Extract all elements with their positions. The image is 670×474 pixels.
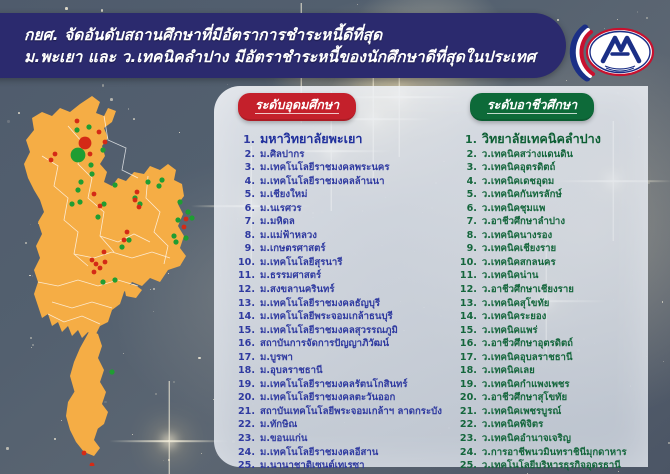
sparkle-dot xyxy=(101,9,104,12)
higher-education-column: ระดับอุดมศึกษา 1.มหาวิทยาลัยพะเยา2.ม.ศิล… xyxy=(214,86,442,467)
list-item-label: ว.อาชีวศึกษาอุตรดิตถ์ xyxy=(482,337,573,351)
list-item: 10.ม.เทคโนโลยีสุรนารี xyxy=(238,256,442,270)
list-item-label: ม.เทคโนโลยีพระจอมเกล้าธนบุรี xyxy=(260,310,393,324)
list-item: 23.ว.เทคนิคอำนาจเจริญ xyxy=(460,432,648,446)
list-item: 17.ว.เทคนิคอุบลราชธานี xyxy=(460,351,648,365)
list-item-label: ว.เทคนิคเชียงราย xyxy=(482,242,556,256)
list-item: 6.ว.เทคนิคชุมแพ xyxy=(460,202,648,216)
list-item-number: 8. xyxy=(238,229,255,243)
list-item: 20.ม.เทคโนโลยีราชมงคลตะวันออก xyxy=(238,391,442,405)
list-item-number: 20. xyxy=(460,391,477,405)
list-item-label: ม.แม่ฟ้าหลวง xyxy=(260,229,317,243)
list-item-label: ม.ขอนแก่น xyxy=(260,432,307,446)
list-item: 4.ม.เทคโนโลยีราชมงคลล้านนา xyxy=(238,175,442,189)
list-item-label: ว.เทคนิคกันทรลักษ์ xyxy=(482,188,562,202)
sparkle-dot xyxy=(637,11,638,12)
list-item: 19.ว.เทคนิคกำแพงเพชร xyxy=(460,378,648,392)
list-item-number: 6. xyxy=(238,202,255,216)
list-item-label: ว.เทคนิคเดชอุดม xyxy=(482,175,554,189)
list-item: 25.ม.นานาชาติเซนต์เทเรซา xyxy=(238,459,442,473)
badge-higher-education: ระดับอุดมศึกษา xyxy=(238,93,356,121)
list-item-number: 13. xyxy=(238,297,255,311)
list-item-number: 25. xyxy=(238,459,255,473)
list-item-number: 8. xyxy=(460,229,477,243)
sparkle-dot xyxy=(557,19,559,21)
list-item-number: 22. xyxy=(238,418,255,432)
list-item-label: ม.ทักษิณ xyxy=(260,418,297,432)
list-item-label: ว.อาชีวศึกษาเชียงราย xyxy=(482,283,574,297)
list-item-label: ม.เทคโนโลยีราชมงคลอีสาน xyxy=(260,446,378,460)
list-item-number: 14. xyxy=(238,310,255,324)
list-item-label: ม.เทคโนโลยีสุรนารี xyxy=(260,256,342,270)
list-item-label: ม.เทคโนโลยีราชมงคลพระนคร xyxy=(260,161,389,175)
badge-vocational-education: ระดับอาชีวศึกษา xyxy=(470,93,594,121)
list-item-number: 22. xyxy=(460,418,477,432)
list-item-number: 10. xyxy=(460,256,477,270)
list-item-number: 4. xyxy=(460,175,477,189)
list-item: 13.ว.เทคนิคสุโขทัย xyxy=(460,297,648,311)
list-item-number: 21. xyxy=(238,405,255,419)
list-item: 14.ม.เทคโนโลยีพระจอมเกล้าธนบุรี xyxy=(238,310,442,324)
list-item: 22.ม.ทักษิณ xyxy=(238,418,442,432)
list-item: 1.วิทยาลัยเทคนิคลำปาง xyxy=(460,130,648,148)
list-item-label: ว.เทคนิคอุบลราชธานี xyxy=(482,351,573,365)
list-item-number: 16. xyxy=(238,337,255,351)
higher-education-list: 1.มหาวิทยาลัยพะเยา2.ม.ศิลปากร3.ม.เทคโนโล… xyxy=(238,130,442,473)
list-item: 2.ม.ศิลปากร xyxy=(238,148,442,162)
list-item-number: 1. xyxy=(238,131,255,148)
badge-higher-education-label: ระดับอุดมศึกษา xyxy=(255,97,339,114)
list-item-number: 23. xyxy=(238,432,255,446)
list-item-label: ม.นเรศวร xyxy=(260,202,302,216)
list-item-number: 15. xyxy=(238,324,255,338)
list-item-number: 2. xyxy=(238,148,255,162)
list-item: 12.ว.อาชีวศึกษาเชียงราย xyxy=(460,283,648,297)
list-item-number: 10. xyxy=(238,256,255,270)
list-item-number: 12. xyxy=(460,283,477,297)
list-item-number: 19. xyxy=(238,378,255,392)
list-item-label: ม.ศิลปากร xyxy=(260,148,304,162)
list-item-label: ม.อุบลราชธานี xyxy=(260,364,323,378)
list-item-number: 21. xyxy=(460,405,477,419)
list-item-number: 15. xyxy=(460,324,477,338)
list-item-number: 11. xyxy=(460,269,477,283)
list-item-number: 4. xyxy=(238,175,255,189)
kyose-logo xyxy=(565,18,657,86)
list-item: 11.ม.ธรรมศาสตร์ xyxy=(238,269,442,283)
list-item-label: ม.เทคโนโลยีราชมงคลสุวรรณภูมิ xyxy=(260,324,398,338)
list-item-number: 23. xyxy=(460,432,477,446)
list-item-number: 20. xyxy=(238,391,255,405)
list-item: 8.ม.แม่ฟ้าหลวง xyxy=(238,229,442,243)
list-item: 11.ว.เทคนิคน่าน xyxy=(460,269,648,283)
list-item: 6.ม.นเรศวร xyxy=(238,202,442,216)
list-item-label: ม.เทคโนโลยีราชมงคลรัตนโกสินทร์ xyxy=(260,378,408,392)
list-item-number: 1. xyxy=(460,131,477,148)
list-item-number: 25. xyxy=(460,459,477,473)
sparkle-dot xyxy=(357,4,358,5)
list-item-number: 7. xyxy=(238,215,255,229)
list-item-number: 16. xyxy=(460,337,477,351)
badge-vocational-education-label: ระดับอาชีวศึกษา xyxy=(487,97,577,114)
list-item-number: 3. xyxy=(238,161,255,175)
vocational-education-list: 1.วิทยาลัยเทคนิคลำปาง2.ว.เทคนิคสว่างแดนด… xyxy=(460,130,648,473)
list-item-label: ม.สงขลานครินทร์ xyxy=(260,283,335,297)
list-item-number: 11. xyxy=(238,269,255,283)
kyose-logo-svg xyxy=(565,18,657,86)
list-item: 3.ม.เทคโนโลยีราชมงคลพระนคร xyxy=(238,161,442,175)
list-item-number: 14. xyxy=(460,310,477,324)
sparkle-dot xyxy=(227,84,228,85)
thailand-map xyxy=(8,86,238,466)
list-item: 5.ว.เทคนิคกันทรลักษ์ xyxy=(460,188,648,202)
list-item-number: 12. xyxy=(238,283,255,297)
list-item: 12.ม.สงขลานครินทร์ xyxy=(238,283,442,297)
list-item: 1.มหาวิทยาลัยพะเยา xyxy=(238,130,442,148)
list-item-number: 7. xyxy=(460,215,477,229)
list-item: 20.ว.อาชีวศึกษาสุโขทัย xyxy=(460,391,648,405)
list-item-number: 18. xyxy=(238,364,255,378)
list-item: 22.ว.เทคนิคพิจิตร xyxy=(460,418,648,432)
list-item-label: ว.เทคนิคพิจิตร xyxy=(482,418,543,432)
list-item-label: มหาวิทยาลัยพะเยา xyxy=(260,130,362,147)
list-item: 17.ม.บูรพา xyxy=(238,351,442,365)
sparkle-dot xyxy=(663,361,664,362)
list-item-number: 9. xyxy=(238,242,255,256)
list-item-number: 2. xyxy=(460,148,477,162)
list-item-label: ว.เทคนิคกำแพงเพชร xyxy=(482,378,570,392)
list-item: 14.ว.เทคนิคระยอง xyxy=(460,310,648,324)
list-item-label: ว.เทคนิคเพชรบูรณ์ xyxy=(482,405,561,419)
list-item: 4.ว.เทคนิคเดชอุดม xyxy=(460,175,648,189)
list-item: 13.ม.เทคโนโลยีราชมงคลธัญบุรี xyxy=(238,297,442,311)
list-item: 3.ว.เทคนิคอุตรดิตถ์ xyxy=(460,161,648,175)
list-item-label: ม.เทคโนโลยีราชมงคลล้านนา xyxy=(260,175,384,189)
list-item: 16.สถาบันการจัดการปัญญาภิวัฒน์ xyxy=(238,337,442,351)
title-banner: กยศ. จัดอันดับสถานศึกษาที่มีอัตราการชำระ… xyxy=(0,13,566,78)
list-item-label: ว.อาชีวศึกษาสุโขทัย xyxy=(482,391,567,405)
rankings-panel: ระดับอุดมศึกษา 1.มหาวิทยาลัยพะเยา2.ม.ศิล… xyxy=(214,86,648,467)
list-item: 21.ว.เทคนิคเพชรบูรณ์ xyxy=(460,405,648,419)
list-item-label: ว.การอาชีพนวมินทราชินีมุกดาหาร xyxy=(482,446,627,460)
list-item: 19.ม.เทคโนโลยีราชมงคลรัตนโกสินทร์ xyxy=(238,378,442,392)
list-item: 15.ว.เทคนิคแพร่ xyxy=(460,324,648,338)
list-item-label: ม.นานาชาติเซนต์เทเรซา xyxy=(260,459,365,473)
list-item-number: 24. xyxy=(460,446,477,460)
thailand-map-svg xyxy=(8,86,238,466)
list-item: 23.ม.ขอนแก่น xyxy=(238,432,442,446)
vocational-education-column: ระดับอาชีวศึกษา 1.วิทยาลัยเทคนิคลำปาง2.ว… xyxy=(442,86,648,467)
list-item-number: 9. xyxy=(460,242,477,256)
list-item-label: ม.บูรพา xyxy=(260,351,293,365)
list-item-number: 18. xyxy=(460,364,477,378)
list-item-label: ว.เทคนิคน่าน xyxy=(482,269,539,283)
list-item-number: 3. xyxy=(460,161,477,175)
list-item-number: 24. xyxy=(238,446,255,460)
list-item-label: ม.เกษตรศาสตร์ xyxy=(260,242,325,256)
list-item-label: ว.อาชีวศึกษาลำปาง xyxy=(482,215,565,229)
list-item-label: ว.เทคนิคชุมแพ xyxy=(482,202,545,216)
list-item: 21.สถาบันเทคโนโลยีพระจอมเกล้าฯ ลาดกระบัง xyxy=(238,405,442,419)
list-item-number: 17. xyxy=(460,351,477,365)
list-item: 18.ว.เทคนิคเลย xyxy=(460,364,648,378)
list-item-label: ม.เทคโนโลยีราชมงคลตะวันออก xyxy=(260,391,395,405)
list-item-label: ว.เทคนิคสุโขทัย xyxy=(482,297,550,311)
list-item-number: 5. xyxy=(238,188,255,202)
list-item-number: 6. xyxy=(460,202,477,216)
list-item-label: ว.เทคนิคแพร่ xyxy=(482,324,538,338)
list-item-label: ว.เทคนิคอุตรดิตถ์ xyxy=(482,161,555,175)
list-item: 18.ม.อุบลราชธานี xyxy=(238,364,442,378)
list-item: 2.ว.เทคนิคสว่างแดนดิน xyxy=(460,148,648,162)
list-item-label: สถาบันการจัดการปัญญาภิวัฒน์ xyxy=(260,337,389,351)
list-item-label: ว.เทคนิคนางรอง xyxy=(482,229,552,243)
list-item: 8.ว.เทคนิคนางรอง xyxy=(460,229,648,243)
list-item-label: ว.เทคนิคเลย xyxy=(482,364,535,378)
list-item: 7.ว.อาชีวศึกษาลำปาง xyxy=(460,215,648,229)
list-item-number: 13. xyxy=(460,297,477,311)
list-item: 10.ว.เทคนิคสกลนคร xyxy=(460,256,648,270)
list-item-label: ว.เทคนิคระยอง xyxy=(482,310,546,324)
infographic-root: กยศ. จัดอันดับสถานศึกษาที่มีอัตราการชำระ… xyxy=(0,0,670,474)
title-line-2: ม.พะเยา และ ว.เทคนิคลำปาง มีอัตราชำระหนี… xyxy=(24,46,566,68)
list-item: 25.ว.เทคโนโลยีบริหารธุรกิจอุดรธานี xyxy=(460,459,648,473)
list-item-label: ม.เชียงใหม่ xyxy=(260,188,307,202)
list-item-label: ม.เทคโนโลยีราชมงคลธัญบุรี xyxy=(260,297,380,311)
list-item-number: 5. xyxy=(460,188,477,202)
list-item: 15.ม.เทคโนโลยีราชมงคลสุวรรณภูมิ xyxy=(238,324,442,338)
list-item-number: 17. xyxy=(238,351,255,365)
list-item: 9.ม.เกษตรศาสตร์ xyxy=(238,242,442,256)
list-item-label: สถาบันเทคโนโลยีพระจอมเกล้าฯ ลาดกระบัง xyxy=(260,405,442,419)
sparkle-dot xyxy=(65,7,68,10)
list-item: 5.ม.เชียงใหม่ xyxy=(238,188,442,202)
sparkle-dot xyxy=(662,301,663,302)
list-item-label: ว.เทคนิคสกลนคร xyxy=(482,256,556,270)
list-item-label: ว.เทคนิคสว่างแดนดิน xyxy=(482,148,573,162)
title-line-1: กยศ. จัดอันดับสถานศึกษาที่มีอัตราการชำระ… xyxy=(24,24,566,46)
list-item-label: วิทยาลัยเทคนิคลำปาง xyxy=(482,130,601,147)
list-item-label: ว.เทคนิคอำนาจเจริญ xyxy=(482,432,571,446)
list-item-label: ว.เทคโนโลยีบริหารธุรกิจอุดรธานี xyxy=(482,459,621,473)
list-item: 7.ม.มหิดล xyxy=(238,215,442,229)
list-item: 9.ว.เทคนิคเชียงราย xyxy=(460,242,648,256)
list-item-label: ม.ธรรมศาสตร์ xyxy=(260,269,321,283)
list-item-label: ม.มหิดล xyxy=(260,215,295,229)
list-item: 24.ม.เทคโนโลยีราชมงคลอีสาน xyxy=(238,446,442,460)
list-item-number: 19. xyxy=(460,378,477,392)
list-item: 16.ว.อาชีวศึกษาอุตรดิตถ์ xyxy=(460,337,648,351)
list-item: 24.ว.การอาชีพนวมินทราชินีมุกดาหาร xyxy=(460,446,648,460)
